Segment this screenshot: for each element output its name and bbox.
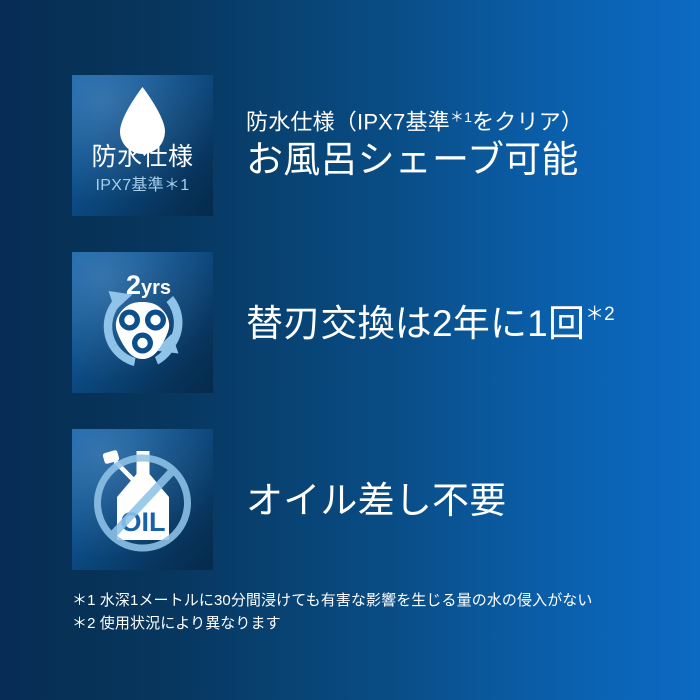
waterproof-icon-box: 防水仕様 IPX7基準＊1 bbox=[72, 75, 213, 216]
waterproof-caption-main: 防水仕様 bbox=[72, 145, 213, 170]
feature-row-blade-replacement: 2 yrs 替刃交換は2年に1回＊2 bbox=[72, 252, 672, 393]
no-oil-icon-box: OIL bbox=[72, 429, 213, 570]
badge-number-text: 2 bbox=[126, 270, 141, 300]
waterproof-subheading-lead: 防水仕様（IPX7基準 bbox=[246, 109, 450, 134]
waterproof-caption-sub: IPX7基準＊1 bbox=[72, 178, 213, 194]
no-oil-heading: オイル差し不要 bbox=[246, 478, 506, 523]
feature-row-waterproof: 防水仕様 IPX7基準＊1 防水仕様（IPX7基準＊1をクリア） お風呂シェーブ… bbox=[72, 75, 672, 216]
no-oil-icon: OIL bbox=[72, 429, 213, 570]
footnote-1: ＊1 水深1メートルに30分間浸けても有害な影響を生じる量の水の侵入がない bbox=[72, 590, 593, 613]
blade-replacement-heading-label: 替刃交換は2年に1回 bbox=[246, 303, 585, 344]
product-feature-panel: 防水仕様 IPX7基準＊1 防水仕様（IPX7基準＊1をクリア） お風呂シェーブ… bbox=[0, 0, 700, 700]
blade-replacement-text-block: 替刃交換は2年に1回＊2 bbox=[246, 299, 615, 346]
badge-unit-text: yrs bbox=[141, 277, 171, 299]
waterproof-subheading-tail: をクリア） bbox=[472, 109, 583, 134]
footnote-2: ＊2 使用状況により異なります bbox=[72, 613, 593, 636]
feature-row-no-oil: OIL オイル差し不要 bbox=[72, 429, 672, 570]
blade-replacement-footnote-mark: ＊2 bbox=[585, 304, 615, 325]
two-years-cycle-icon: 2 yrs bbox=[72, 252, 213, 393]
waterproof-heading: お風呂シェーブ可能 bbox=[246, 137, 583, 182]
footnotes-block: ＊1 水深1メートルに30分間浸けても有害な影響を生じる量の水の侵入がない ＊2… bbox=[72, 590, 593, 636]
waterproof-text-block: 防水仕様（IPX7基準＊1をクリア） お風呂シェーブ可能 bbox=[246, 109, 583, 183]
blade-replacement-icon-box: 2 yrs bbox=[72, 252, 213, 393]
no-oil-text-block: オイル差し不要 bbox=[246, 476, 506, 523]
waterproof-subheading: 防水仕様（IPX7基準＊1をクリア） bbox=[246, 109, 583, 136]
waterproof-subheading-footnote-mark: ＊1 bbox=[450, 109, 472, 125]
blade-replacement-heading: 替刃交換は2年に1回＊2 bbox=[246, 301, 615, 346]
